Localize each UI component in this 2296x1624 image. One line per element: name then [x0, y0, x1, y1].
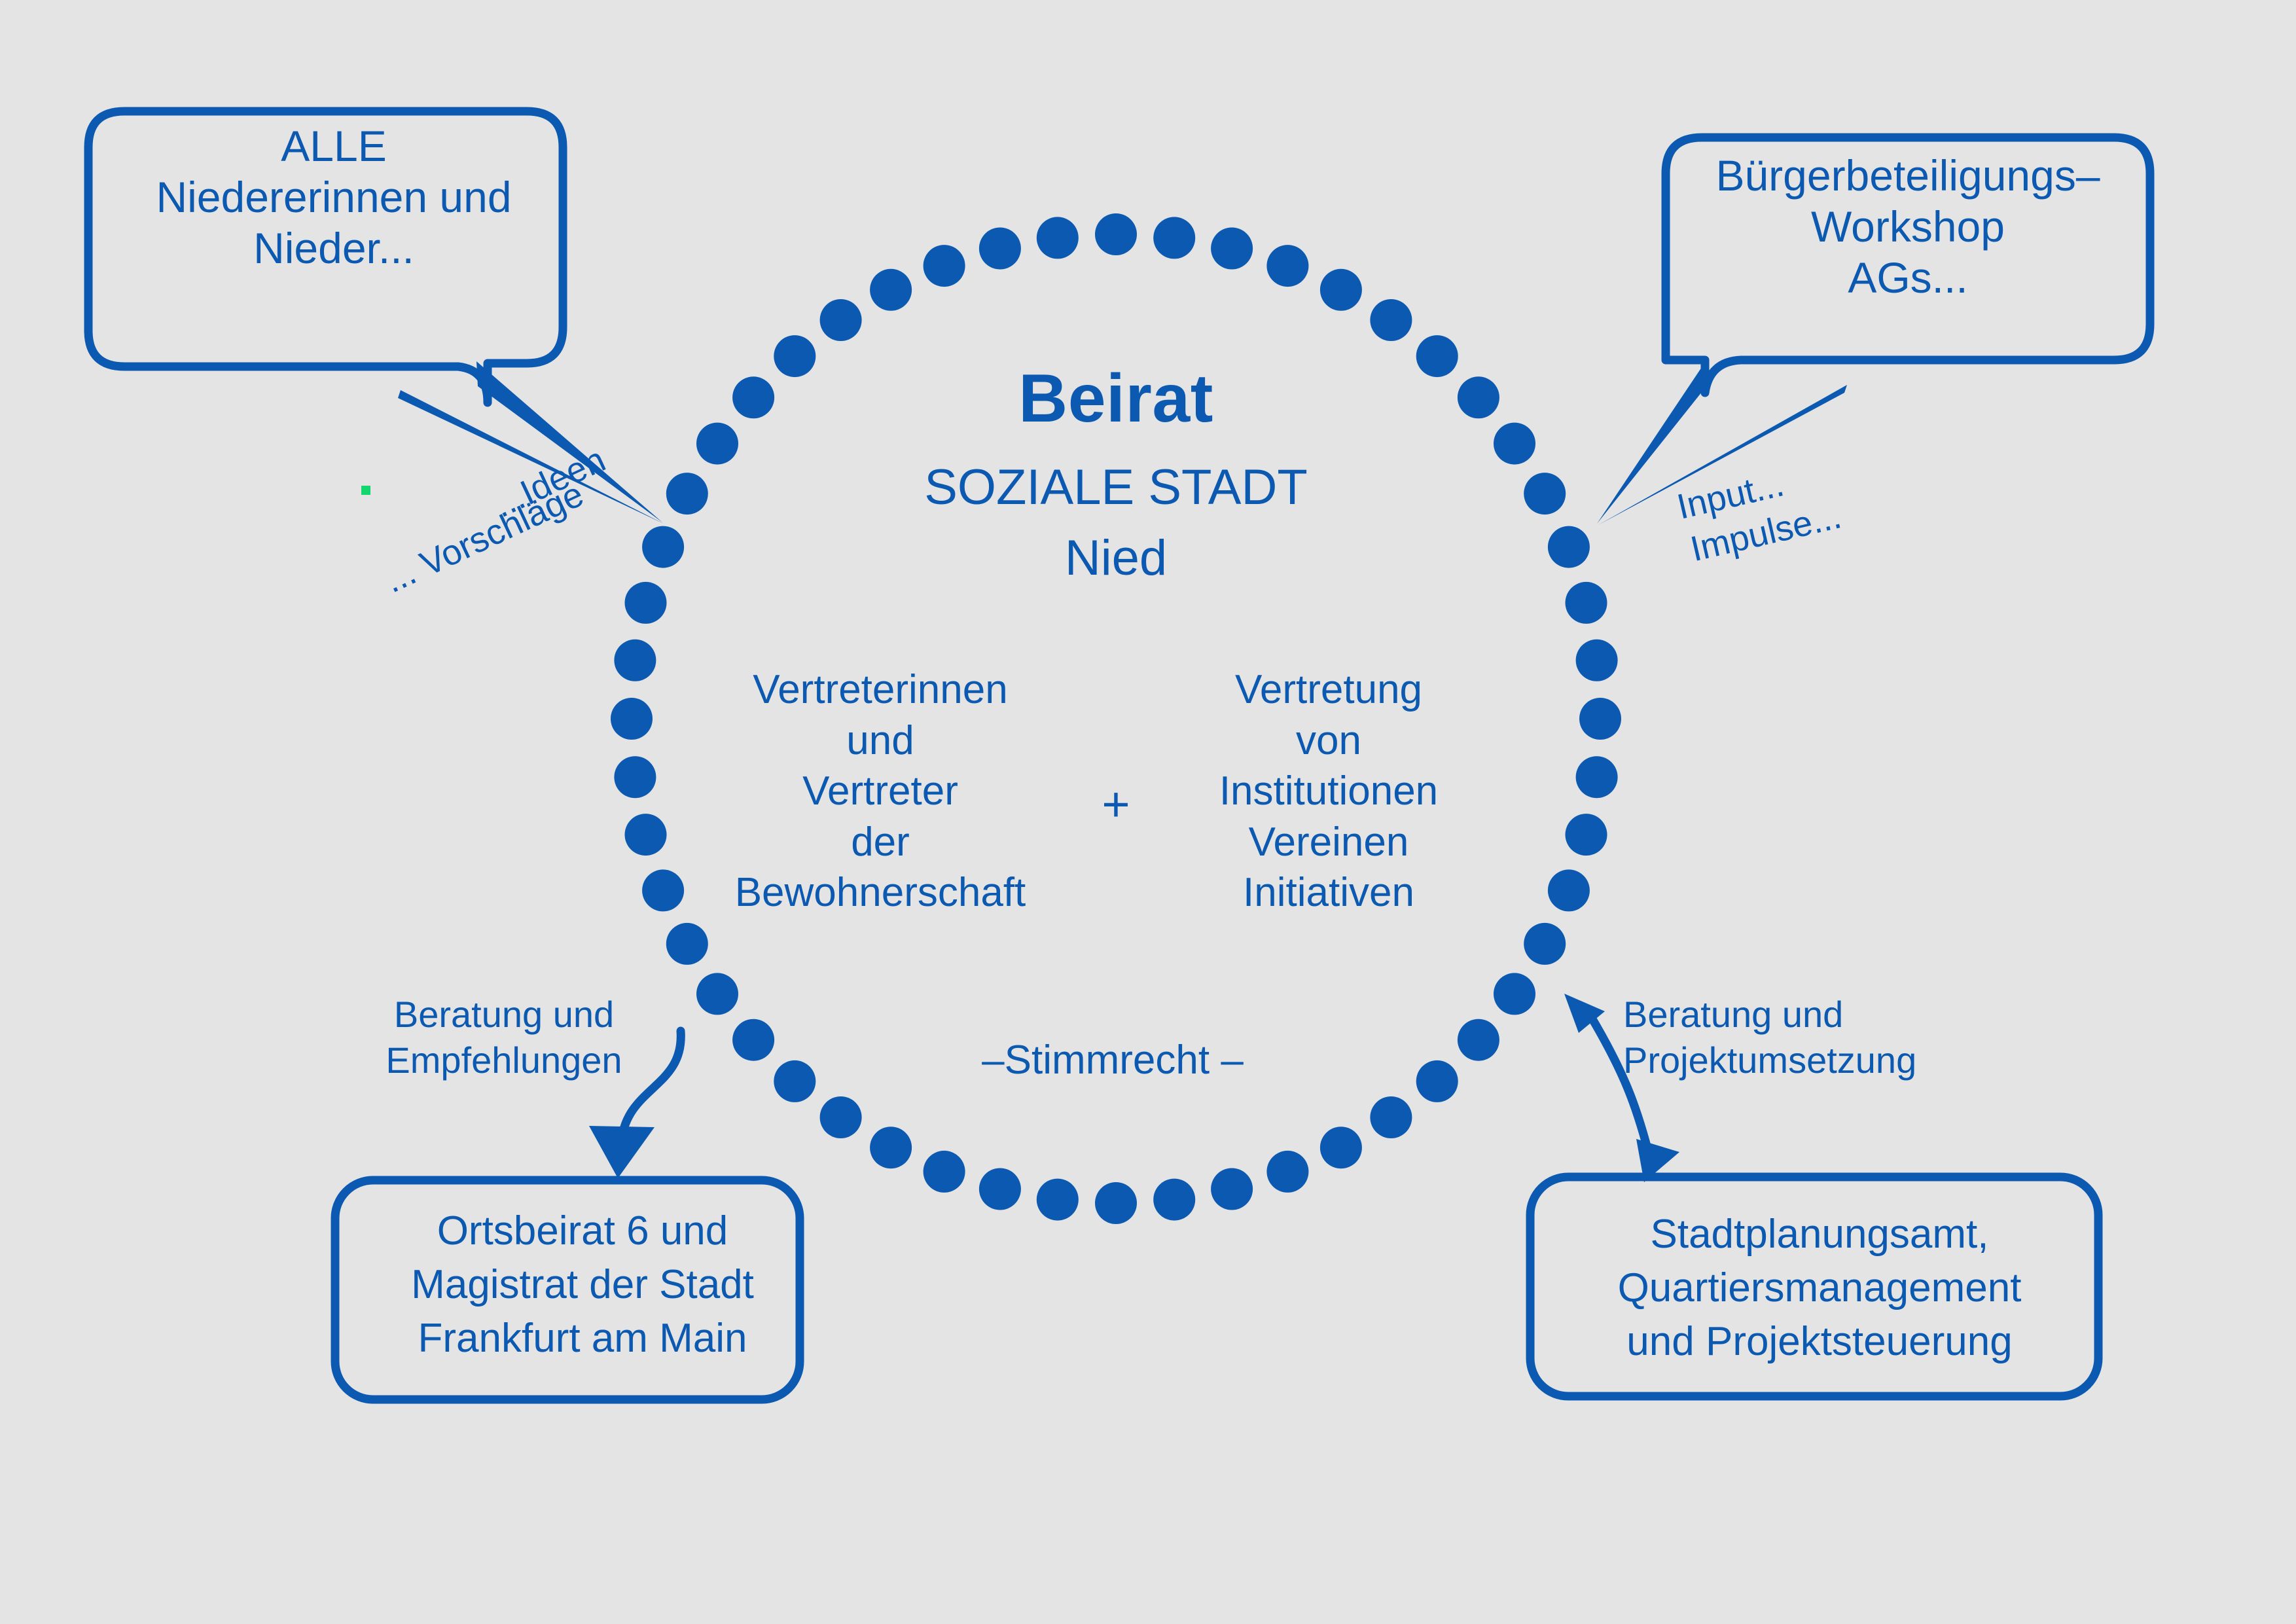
label-beratung-projektumsetzung: Beratung und Projektumsetzung: [1623, 992, 1964, 1083]
ring-dot: [1524, 473, 1566, 514]
ring-dot: [1494, 973, 1535, 1015]
ring-dot: [820, 299, 862, 341]
ring-dot: [1370, 299, 1412, 341]
ring-dot: [1458, 1019, 1499, 1061]
label-beratung-empfehlungen: Beratung und Empfehlungen: [353, 992, 655, 1083]
ring-dot: [979, 228, 1021, 270]
ring-dot: [774, 335, 816, 377]
ring-dot: [1576, 640, 1618, 681]
ring-dot: [1416, 1060, 1458, 1102]
diagram-subtitle-line1: SOZIALE STADT: [828, 458, 1404, 517]
ring-dot: [614, 640, 656, 681]
ring-dot: [1320, 1127, 1362, 1168]
bubble-top-right-label: Bürgerbeteiligungs– Workshop AGs...: [1666, 151, 2150, 304]
ring-dot: [1524, 923, 1566, 965]
box-bottom-right-label: Stadtplanungsamt, Quartiersmanagement un…: [1558, 1208, 2081, 1368]
ring-dot: [870, 269, 912, 311]
box-bottom-left-label: Ortsbeirat 6 und Magistrat der Stadt Fra…: [367, 1204, 798, 1365]
ring-dot: [1037, 1179, 1079, 1221]
diagram-canvas: .stroke-blue{fill:none;stroke:#0b59b0;st…: [0, 0, 2296, 1624]
ring-dot: [1458, 376, 1499, 418]
ring-dot: [1548, 869, 1590, 911]
ring-dot: [614, 756, 656, 798]
plus-symbol: +: [1083, 776, 1149, 833]
ring-dot: [1548, 526, 1590, 568]
circle-column-left: Vertreterinnen und Vertreter der Bewohne…: [704, 664, 1057, 918]
ring-dot: [1211, 228, 1253, 270]
ring-dot: [732, 376, 774, 418]
ring-dot: [1037, 217, 1079, 259]
ring-dot: [1320, 269, 1362, 311]
ring-dot: [696, 423, 738, 465]
diagram-title: Beirat: [828, 359, 1404, 439]
ring-dot: [1095, 213, 1137, 255]
ring-dot: [924, 245, 965, 287]
ring-dot: [1494, 423, 1535, 465]
ring-dot: [1266, 1151, 1308, 1193]
green-marker-dot: [361, 486, 370, 495]
circle-column-right: Vertretung von Institutionen Vereinen In…: [1185, 664, 1473, 918]
ring-dot: [1153, 1179, 1195, 1221]
ring-dot: [1153, 217, 1195, 259]
ring-dot: [666, 473, 708, 514]
ring-dot: [820, 1096, 862, 1138]
ring-dot: [1566, 582, 1607, 624]
ring-dot: [979, 1168, 1021, 1210]
ring-dot: [696, 973, 738, 1015]
ring-dot: [1211, 1168, 1253, 1210]
ring-dot: [870, 1127, 912, 1168]
ring-dot: [732, 1019, 774, 1061]
ring-dot: [1266, 245, 1308, 287]
ring-dot: [774, 1060, 816, 1102]
ring-dot: [924, 1151, 965, 1193]
bubble-top-left-label: ALLE Niedererinnen und Nieder...: [92, 121, 576, 274]
ring-dot: [1576, 756, 1618, 798]
ring-dot: [625, 582, 667, 624]
diagram-subtitle-line2: Nied: [828, 529, 1404, 588]
ring-dot: [1095, 1182, 1137, 1224]
ring-dot: [642, 526, 684, 568]
stimmrecht-note: –Stimmrecht –: [897, 1036, 1329, 1084]
ring-dot: [1370, 1096, 1412, 1138]
ring-dot: [1566, 814, 1607, 856]
ring-dot: [642, 869, 684, 911]
ring-dot: [1579, 698, 1621, 740]
ring-dot: [625, 814, 667, 856]
ring-dot: [666, 923, 708, 965]
arrow-left-head: [589, 1126, 655, 1178]
ring-dot: [611, 698, 653, 740]
ring-dot: [1416, 335, 1458, 377]
